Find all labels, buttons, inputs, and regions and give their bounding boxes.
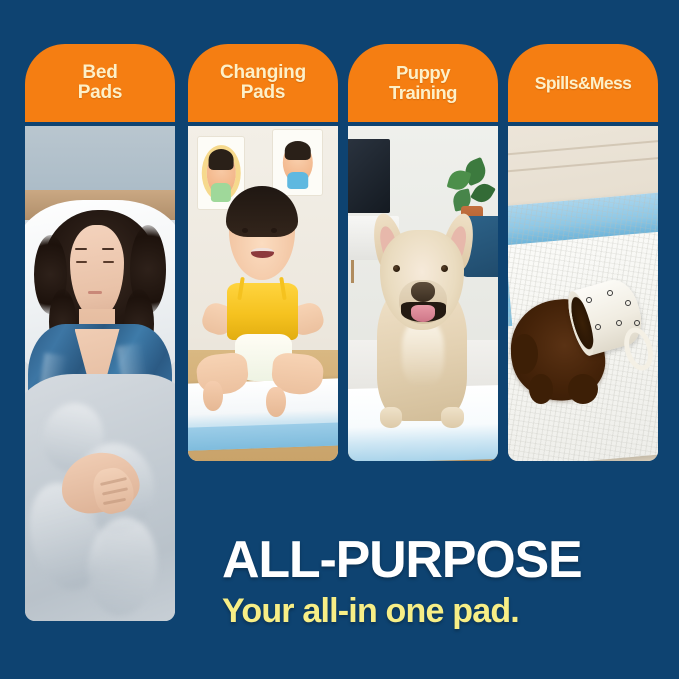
dog-eye-right (441, 265, 448, 272)
woman-lips (88, 291, 102, 294)
scene-baby-on-pad (188, 126, 338, 461)
panel-label-line-1: Spills&Mess (535, 73, 632, 93)
baby-foot-right (266, 387, 286, 417)
woman-eyebrow-left (75, 248, 87, 250)
panel-changing-pads[interactable]: Changing Pads (188, 44, 338, 461)
panel-photo-puppy-training (348, 126, 498, 461)
panel-photo-changing-pads (188, 126, 338, 461)
all-purpose-pad-infographic: Bed Pads (0, 0, 679, 679)
spill-lobe (529, 374, 553, 404)
woman-eye-left-closed (76, 261, 87, 264)
panel-photo-spills-and-mess (508, 126, 658, 461)
panel-header-spills-and-mess: Spills&Mess (508, 44, 658, 122)
panel-label-spills-and-mess: Spills&Mess (535, 74, 632, 93)
panel-label-line-1: Puppy (396, 62, 450, 83)
dog-chest-highlight (402, 320, 444, 387)
spill-lobe (568, 374, 598, 404)
woman-eye-right-closed (103, 261, 114, 264)
panel-header-bed-pads: Bed Pads (25, 44, 175, 122)
panel-spills-and-mess[interactable]: Spills&Mess (508, 44, 658, 461)
spill-lobe (511, 334, 538, 374)
panel-label-bed-pads: Bed Pads (78, 63, 123, 103)
panel-photo-bed-pads (25, 126, 175, 621)
scene-dog-on-pad (348, 126, 498, 461)
headline-title: ALL-PURPOSE (222, 534, 634, 587)
dog-paw-right (441, 407, 464, 427)
scene-coffee-spill (508, 126, 658, 461)
poster-cartoon-hair (209, 149, 234, 171)
panel-puppy-training[interactable]: Puppy Training (348, 44, 498, 461)
baby-eye-right (271, 228, 277, 233)
panel-label-changing-pads: Changing Pads (220, 63, 306, 103)
panel-label-line-2: Training (389, 82, 457, 103)
panel-bed-pads[interactable]: Bed Pads (25, 44, 175, 621)
woman-eyebrow-right (102, 248, 114, 250)
scene-sleeping-woman (25, 126, 175, 621)
poster-cartoon-body (211, 183, 231, 202)
panel-label-line-2: Pads (78, 82, 123, 103)
mug-floral-motif (586, 297, 592, 303)
headline-block: ALL-PURPOSE Your all-in one pad. (222, 534, 634, 631)
console-leg (351, 260, 354, 283)
dog-paw-left (380, 407, 403, 427)
panel-label-puppy-training: Puppy Training (389, 63, 457, 102)
mug-floral-motif (595, 324, 601, 330)
panel-header-changing-pads: Changing Pads (188, 44, 338, 122)
dog-nose (411, 282, 435, 302)
baby-foot-left (203, 381, 223, 411)
dog-eye-left (393, 265, 400, 272)
panel-label-line-1: Changing (220, 62, 306, 83)
dog-tongue (411, 305, 435, 322)
panel-header-puppy-training: Puppy Training (348, 44, 498, 122)
television (348, 139, 390, 213)
wall-poster (272, 129, 323, 196)
panel-label-line-1: Bed (82, 62, 117, 83)
poster-cartoon-hair (284, 141, 310, 161)
headline-subtitle: Your all-in one pad. (222, 592, 634, 631)
panel-label-line-2: Pads (241, 82, 286, 103)
poster-cartoon-body (287, 172, 309, 189)
